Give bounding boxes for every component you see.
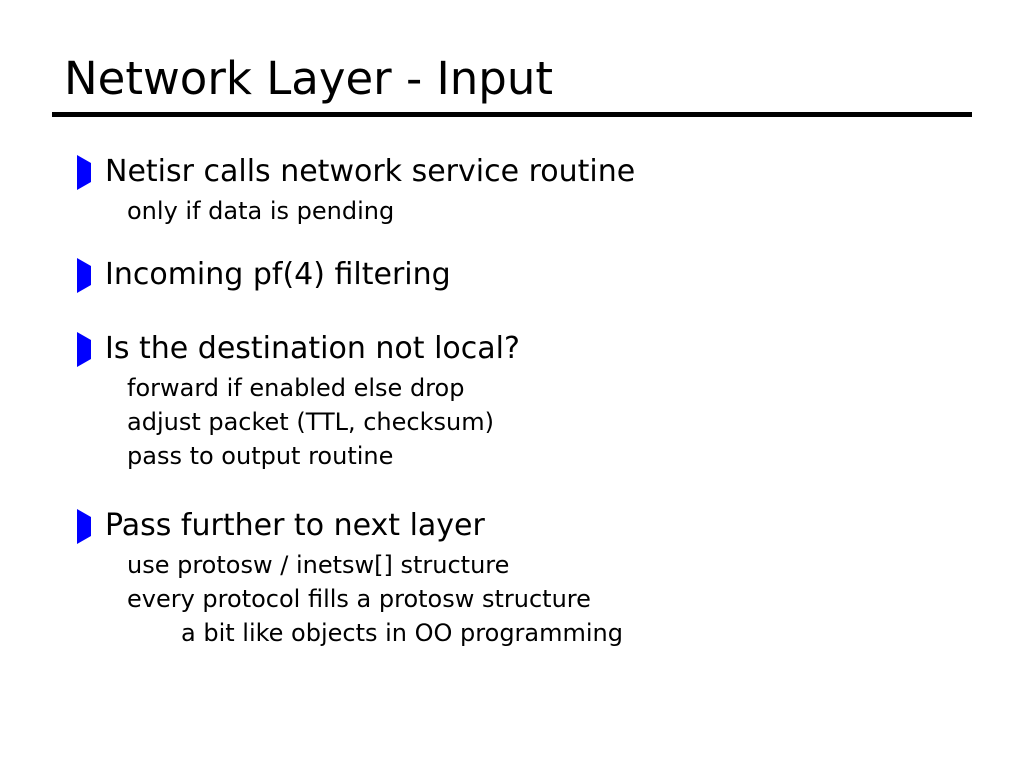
bullet-item-level1: Is the destination not local? bbox=[0, 329, 1024, 371]
bullet-text: Netisr calls network service routine bbox=[105, 152, 635, 192]
bullet-item-level2: every protocol fills a protosw structure bbox=[0, 583, 1024, 617]
slide-body: Netisr calls network service routine onl… bbox=[0, 152, 1024, 651]
dot-icon bbox=[159, 629, 168, 638]
outline-block: Is the destination not local? forward if… bbox=[0, 329, 1024, 474]
dot-icon bbox=[105, 561, 114, 570]
triangle-right-icon bbox=[77, 517, 94, 533]
bullet-item-level1: Incoming pf(4) filtering bbox=[0, 255, 1024, 297]
triangle-right-icon bbox=[77, 266, 94, 282]
bullet-text: Is the destination not local? bbox=[105, 329, 520, 369]
dot-icon bbox=[105, 384, 114, 393]
sub-bullet-group: use protosw / inetsw[] structure every p… bbox=[0, 549, 1024, 651]
dot-icon bbox=[105, 207, 114, 216]
outline-block: Pass further to next layer use protosw /… bbox=[0, 506, 1024, 651]
bullet-text: Incoming pf(4) filtering bbox=[105, 255, 451, 295]
bullet-item-level2: forward if enabled else drop bbox=[0, 372, 1024, 406]
dot-icon bbox=[105, 595, 114, 604]
dot-icon bbox=[105, 452, 114, 461]
slide: Network Layer - Input Netisr calls netwo… bbox=[0, 0, 1024, 768]
bullet-text: a bit like objects in OO programming bbox=[181, 617, 623, 650]
bullet-item-level2: adjust packet (TTL, checksum) bbox=[0, 406, 1024, 440]
page-title: Network Layer - Input bbox=[64, 52, 553, 106]
bullet-text: Pass further to next layer bbox=[105, 506, 485, 546]
triangle-right-icon bbox=[77, 163, 94, 179]
bullet-text: adjust packet (TTL, checksum) bbox=[127, 406, 494, 439]
bullet-item-level2: use protosw / inetsw[] structure bbox=[0, 549, 1024, 583]
outline-block: Netisr calls network service routine onl… bbox=[0, 152, 1024, 229]
bullet-text: pass to output routine bbox=[127, 440, 393, 473]
bullet-item-level3: a bit like objects in OO programming bbox=[0, 617, 1024, 651]
bullet-text: every protocol fills a protosw structure bbox=[127, 583, 591, 616]
outline-block: Incoming pf(4) filtering bbox=[0, 255, 1024, 297]
bullet-text: only if data is pending bbox=[127, 195, 394, 228]
bullet-item-level2: pass to output routine bbox=[0, 440, 1024, 474]
bullet-text: forward if enabled else drop bbox=[127, 372, 464, 405]
bullet-text: use protosw / inetsw[] structure bbox=[127, 549, 509, 582]
triangle-right-icon bbox=[77, 340, 94, 356]
bullet-item-level2: only if data is pending bbox=[0, 195, 1024, 229]
sub-bullet-group: forward if enabled else drop adjust pack… bbox=[0, 372, 1024, 474]
bullet-item-level1: Netisr calls network service routine bbox=[0, 152, 1024, 194]
bullet-item-level1: Pass further to next layer bbox=[0, 506, 1024, 548]
title-divider bbox=[52, 112, 972, 117]
sub-bullet-group: only if data is pending bbox=[0, 195, 1024, 229]
dot-icon bbox=[105, 418, 114, 427]
